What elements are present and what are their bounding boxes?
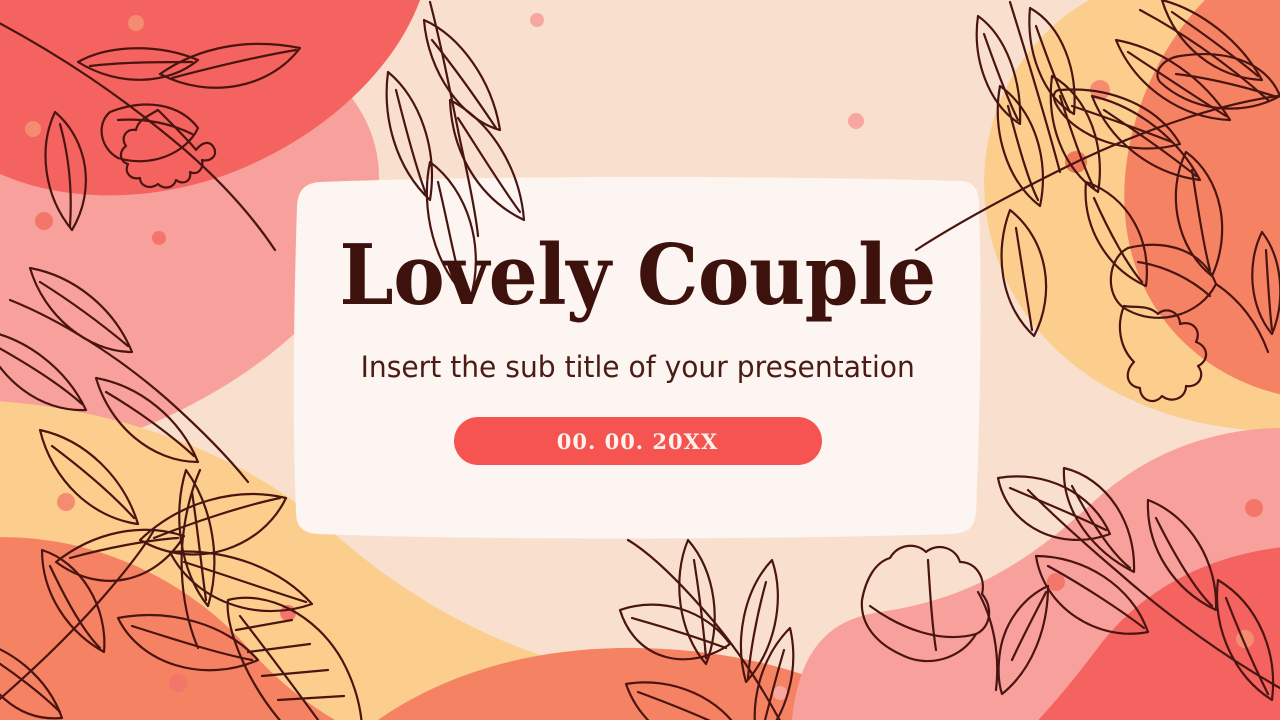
decorative-dot-6 [1090, 80, 1110, 100]
decorative-dot-2 [35, 212, 53, 230]
title-card-content: Lovely Couple Insert the sub title of yo… [297, 178, 978, 538]
blob-bottom-centre-orange [330, 648, 940, 720]
leaf-sprig-far-bottom-left [0, 530, 154, 718]
decorative-dot-9 [280, 605, 296, 621]
decorative-dot-1 [25, 121, 41, 137]
blob-top-right-amber [984, 0, 1280, 432]
slide-subtitle: Insert the sub title of your presentatio… [360, 353, 914, 382]
leaf-sprig-bottom-right [998, 468, 1280, 700]
leaf-sprig-bottom-centre [620, 540, 793, 720]
decorative-dot-7 [1065, 151, 1087, 173]
leaf-cluster-mid-right [1252, 232, 1280, 334]
leaf-tall-bottom-right [999, 586, 1048, 694]
leaf-sprig-top-left [0, 18, 300, 250]
decorative-dot-13 [1236, 630, 1254, 648]
leaf-sprig-bottom-left [56, 470, 312, 670]
decorative-dot-10 [169, 674, 187, 692]
decorative-dot-5 [848, 113, 864, 129]
tulip-flower-bottom-centre [862, 546, 997, 690]
feather-leaf-bottom-left [228, 598, 363, 720]
date-badge-button[interactable]: 00. 00. 20XX [454, 417, 822, 465]
leaf-frond-top-right [1092, 0, 1268, 180]
presentation-slide: Lovely Couple Insert the sub title of yo… [0, 0, 1280, 720]
flower-bloom-right [1111, 245, 1268, 401]
decorative-dot-4 [530, 13, 544, 27]
palm-frond-top-right [977, 2, 1100, 206]
blob-bottom-left-orange [0, 537, 430, 720]
blob-top-right-orange [1124, 0, 1280, 400]
blob-bottom-right-coral [1000, 545, 1280, 720]
blob-top-left-coral [0, 0, 430, 195]
decorative-dot-8 [57, 493, 75, 511]
decorative-dot-3 [152, 231, 166, 245]
page-title: Lovely Couple [339, 234, 935, 317]
flower-bloom-top-left [102, 105, 215, 188]
leaf-sprig-left [0, 268, 248, 524]
date-badge-label: 00. 00. 20XX [557, 431, 719, 452]
decorative-dot-0 [128, 15, 144, 31]
decorative-dot-11 [1245, 499, 1263, 517]
decorative-dot-12 [1047, 573, 1065, 591]
decorative-dot-14 [773, 686, 787, 700]
